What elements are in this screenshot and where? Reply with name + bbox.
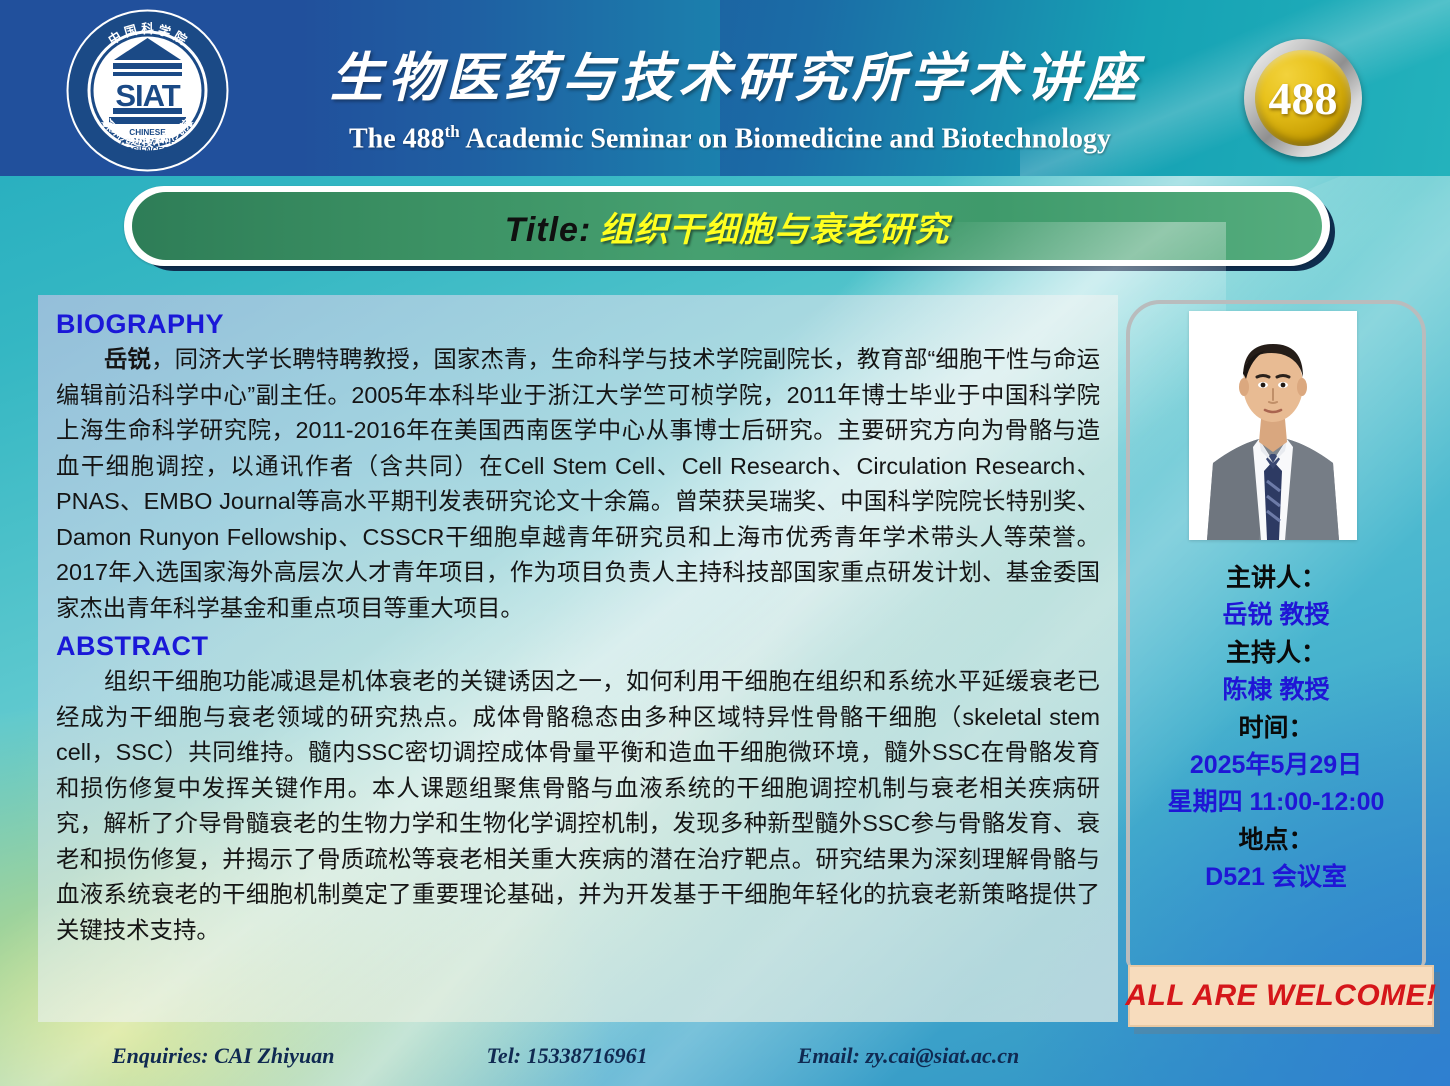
host-label: 主持人： bbox=[1126, 637, 1426, 669]
title-bar-text: Title:组织干细胞与衰老研究 bbox=[505, 202, 950, 251]
host-value: 陈棣 教授 bbox=[1126, 674, 1426, 706]
header-title-chinese: 生物医药与技术研究所学术讲座 bbox=[330, 36, 1140, 112]
abstract-paragraph: 组织干细胞功能减退是机体衰老的关键诱因之一，如何利用干细胞在组织和系统水平延缓衰… bbox=[56, 664, 1100, 948]
biography-text: ，同济大学长聘特聘教授，国家杰青，生命科学与技术学院副院长，教育部“细胞干性与命… bbox=[56, 346, 1100, 621]
time-value-date: 2025年5月29日 bbox=[1126, 749, 1426, 781]
seminar-number-medallion: 488 bbox=[1244, 39, 1362, 157]
sidebar-info: 主讲人： 岳锐 教授 主持人： 陈棣 教授 时间： 2025年5月29日 星期四… bbox=[1126, 556, 1426, 893]
header-title-english: The 488th Academic Seminar on Biomedicin… bbox=[250, 122, 1210, 155]
seminar-poster: SIAT CHINESE ACADEMY OF SCIENCES 中 国 科 学… bbox=[0, 0, 1450, 1086]
header-title-english-pre: The 488 bbox=[349, 123, 445, 154]
footer-enquiries: Enquiries: CAI Zhiyuan bbox=[112, 1043, 335, 1069]
venue-value: D521 会议室 bbox=[1126, 861, 1426, 893]
header-title-ordinal: th bbox=[445, 122, 460, 141]
footer-tel: Tel: 15338716961 bbox=[487, 1043, 648, 1069]
welcome-banner: ALL ARE WELCOME! bbox=[1128, 965, 1434, 1027]
biography-heading: BIOGRAPHY bbox=[56, 309, 1100, 340]
svg-text:★: ★ bbox=[100, 116, 112, 131]
biography-paragraph: 岳锐，同济大学长聘特聘教授，国家杰青，生命科学与技术学院副院长，教育部“细胞干性… bbox=[56, 342, 1100, 626]
abstract-heading: ABSTRACT bbox=[56, 631, 1100, 662]
title-label: Title: bbox=[505, 211, 592, 249]
svg-text:SIAT: SIAT bbox=[115, 78, 180, 113]
time-value-slot: 星期四 11:00-12:00 bbox=[1126, 786, 1426, 818]
speaker-label: 主讲人： bbox=[1126, 562, 1426, 594]
speaker-photo bbox=[1189, 311, 1357, 540]
medallion-number: 488 bbox=[1244, 39, 1362, 157]
poster-footer: Enquiries: CAI Zhiyuan Tel: 15338716961 … bbox=[0, 1030, 1120, 1082]
time-label: 时间： bbox=[1126, 712, 1426, 744]
speaker-value: 岳锐 教授 bbox=[1126, 599, 1426, 631]
title-value: 组织干细胞与衰老研究 bbox=[599, 211, 949, 249]
welcome-text: ALL ARE WELCOME! bbox=[1125, 979, 1436, 1013]
title-bar: Title:组织干细胞与衰老研究 bbox=[132, 192, 1322, 260]
siat-logo: SIAT CHINESE ACADEMY OF SCIENCES 中 国 科 学… bbox=[65, 8, 230, 173]
venue-label: 地点： bbox=[1126, 824, 1426, 856]
header-title-english-post: Academic Seminar on Biomedicine and Biot… bbox=[460, 123, 1111, 154]
biography-speaker-name: 岳锐 bbox=[104, 346, 151, 372]
footer-email: Email: zy.cai@siat.ac.cn bbox=[798, 1043, 1020, 1069]
svg-text:★: ★ bbox=[183, 116, 195, 131]
content-panel: BIOGRAPHY 岳锐，同济大学长聘特聘教授，国家杰青，生命科学与技术学院副院… bbox=[38, 295, 1118, 1022]
